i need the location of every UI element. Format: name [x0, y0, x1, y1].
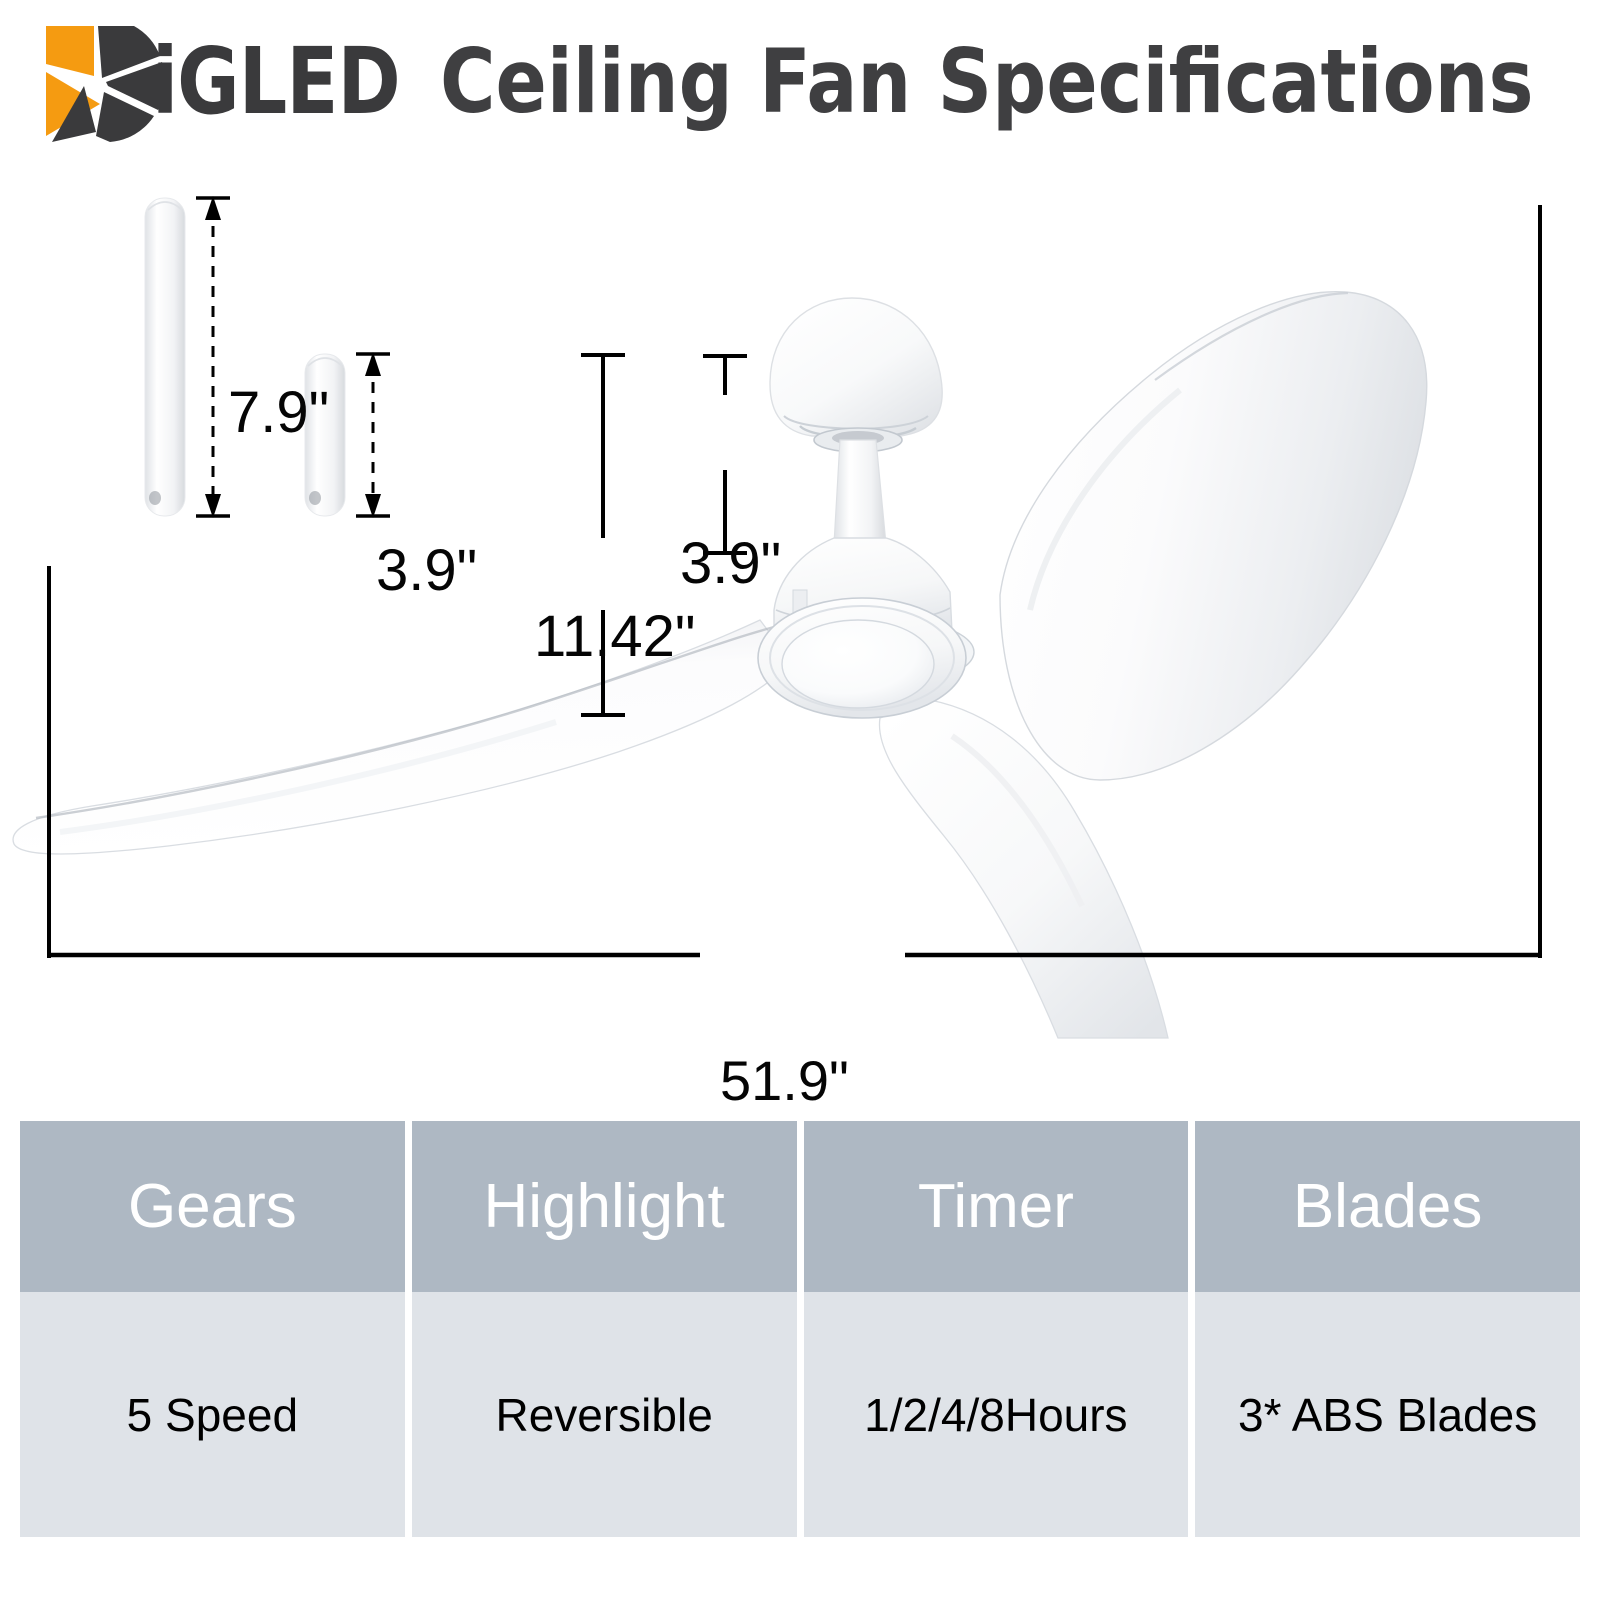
dimension-lines-layer	[0, 140, 1600, 1040]
dimension-label-canopy-drop: 3.9"	[680, 535, 781, 593]
dimension-label-blade-span: 51.9"	[720, 1053, 849, 1109]
dimension-long-downrod	[196, 196, 230, 518]
dimension-short-downrod	[356, 352, 390, 518]
page-title: Ceiling Fan Specifications	[440, 34, 1534, 129]
page-header: iGLED Ceiling Fan Specifications	[0, 0, 1600, 150]
spec-value-highlight: Reversible	[412, 1292, 797, 1537]
spec-header-timer: Timer	[804, 1121, 1189, 1292]
spec-header-highlight: Highlight	[412, 1121, 797, 1292]
spec-value-blades: 3* ABS Blades	[1195, 1292, 1580, 1537]
dimension-blade-span	[49, 205, 1540, 958]
brand-wordmark: iGLED	[152, 36, 400, 128]
spec-value-gears: 5 Speed	[20, 1292, 405, 1537]
spec-header-blades: Blades	[1195, 1121, 1580, 1292]
dimension-label-long-downrod: 7.9"	[228, 384, 329, 442]
spec-header-gears: Gears	[20, 1121, 405, 1292]
digled-shutter-logo-icon	[38, 24, 166, 144]
dimension-canopy-drop	[703, 356, 747, 553]
dimension-label-short-downrod: 3.9"	[376, 542, 477, 600]
dimension-label-overall-height: 11.42"	[534, 608, 695, 666]
product-dimension-diagram: 7.9" 3.9" 3.9" 11.42" 51.9"	[0, 140, 1600, 1040]
spec-value-timer: 1/2/4/8Hours	[804, 1292, 1189, 1537]
specifications-table: Gears Highlight Timer Blades 5 Speed Rev…	[20, 1121, 1580, 1537]
